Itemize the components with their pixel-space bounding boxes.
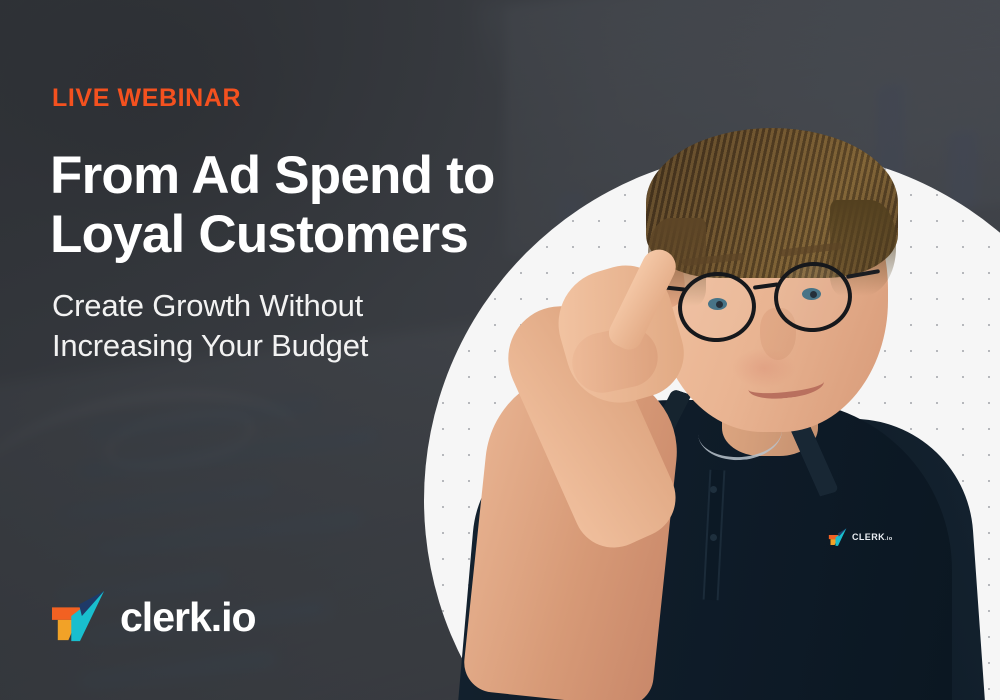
clerk-io-paper-plane-icon — [50, 590, 108, 644]
subtitle-line-2: Increasing Your Budget — [52, 326, 522, 366]
shirt-button — [710, 486, 717, 493]
shirt-button — [710, 534, 717, 541]
headline-line-1: From Ad Spend to — [50, 146, 495, 205]
clerk-io-wordmark: clerk.io — [120, 597, 256, 638]
shirt-logo-mark-icon — [828, 528, 848, 547]
shirt-clerk-io-logo: CLERK.io — [828, 528, 898, 550]
webinar-promo-banner: CLERK.io LIVE WEBINAR From Ad Spend to L… — [0, 0, 1000, 700]
eyebrow-label: LIVE WEBINAR — [52, 84, 241, 113]
shirt-logo-wordmark: CLERK.io — [852, 532, 893, 542]
subtitle-line-1: Create Growth Without — [52, 288, 363, 323]
page-title: From Ad Spend to Loyal Customers — [50, 146, 570, 265]
clerk-io-logo[interactable]: clerk.io — [50, 590, 256, 644]
subtitle: Create Growth Without Increasing Your Bu… — [52, 286, 522, 365]
headline-line-2: Loyal Customers — [50, 205, 570, 264]
